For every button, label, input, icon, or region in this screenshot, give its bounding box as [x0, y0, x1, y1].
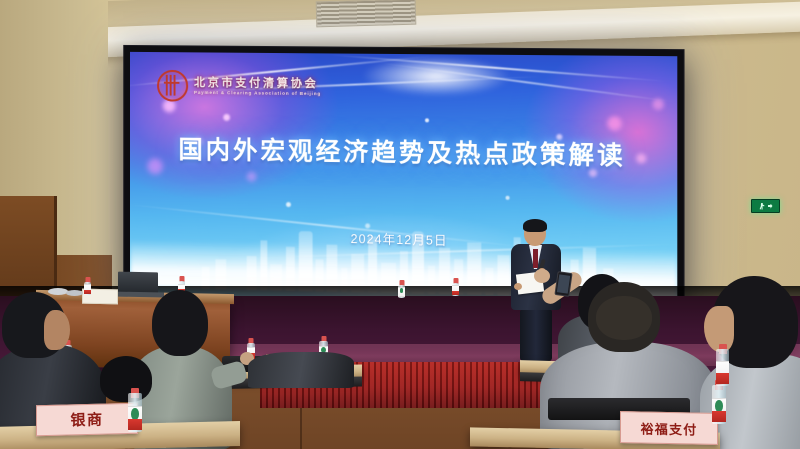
bokeh-particle: [223, 114, 230, 121]
emergency-exit-sign: [751, 199, 780, 213]
water-bottle: [398, 280, 405, 298]
air-vent-grille: [316, 0, 417, 27]
association-name-cn: 北京市支付清算协会: [194, 77, 321, 90]
bokeh-particle: [506, 196, 510, 200]
right-arrow-icon: [768, 204, 773, 209]
bokeh-particle: [286, 202, 291, 207]
table-placard-front-left: 银商: [36, 403, 138, 436]
attendee-hand: [534, 269, 550, 283]
running-man-icon: [759, 203, 766, 210]
presenter-hair: [523, 219, 547, 232]
bokeh-particle: [247, 172, 257, 182]
association-seal-icon: [157, 70, 188, 102]
water-bottle: [712, 380, 726, 424]
water-bottle: [716, 344, 729, 386]
water-bottle: [128, 388, 142, 432]
association-name-en: Payment & Clearing Association of Beijin…: [194, 91, 321, 97]
bokeh-particle: [425, 118, 429, 122]
association-logo: 北京市支付清算协会 Payment & Clearing Association…: [157, 70, 321, 103]
presenter-tie: [533, 249, 538, 268]
bokeh-particle: [607, 116, 621, 130]
conference-room-photo: 北京市支付清算协会 Payment & Clearing Association…: [0, 0, 800, 449]
presenter-left-hand: [514, 283, 522, 290]
water-bottle: [452, 278, 459, 296]
slide-title: 国内外宏观经济趋势及热点政策解读: [130, 130, 677, 174]
table-placard-front-right: 裕福支付: [620, 411, 718, 445]
coat-on-chair: [248, 352, 354, 388]
